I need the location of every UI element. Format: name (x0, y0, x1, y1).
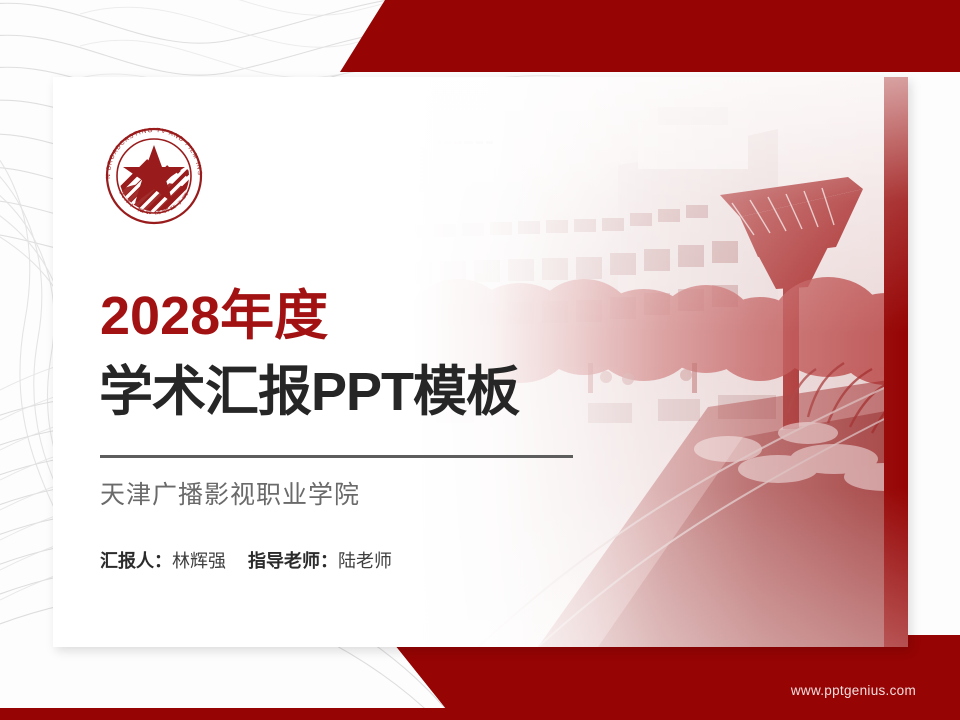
school-name: 天津广播影视职业学院 (100, 475, 360, 511)
advisor-value: 陆老师 (338, 551, 392, 571)
title-divider (100, 455, 573, 458)
reporter-label: 汇报人 (100, 551, 154, 571)
advisor-separator: ： (320, 551, 338, 571)
college-emblem-logo: TIANJIN BROADCASTING TV AND FILM INSTITU… (95, 117, 213, 235)
title-main: 学术汇报PPT模板 (99, 365, 519, 419)
title-year: 2028年度 (100, 289, 328, 343)
presentation-slide: TIANJIN BROADCASTING TV AND FILM INSTITU… (0, 0, 960, 720)
reporter-value: 林辉强 (172, 551, 226, 571)
advisor-label: 指导老师 (248, 551, 320, 571)
presenter-info: 汇报人：林辉强指导老师：陆老师 (100, 547, 392, 573)
card-content: TIANJIN BROADCASTING TV AND FILM INSTITU… (53, 77, 908, 647)
reporter-separator: ： (154, 551, 172, 571)
content-card: TIANJIN BROADCASTING TV AND FILM INSTITU… (53, 77, 908, 647)
footer-website-url: www.pptgenius.com (791, 683, 916, 698)
